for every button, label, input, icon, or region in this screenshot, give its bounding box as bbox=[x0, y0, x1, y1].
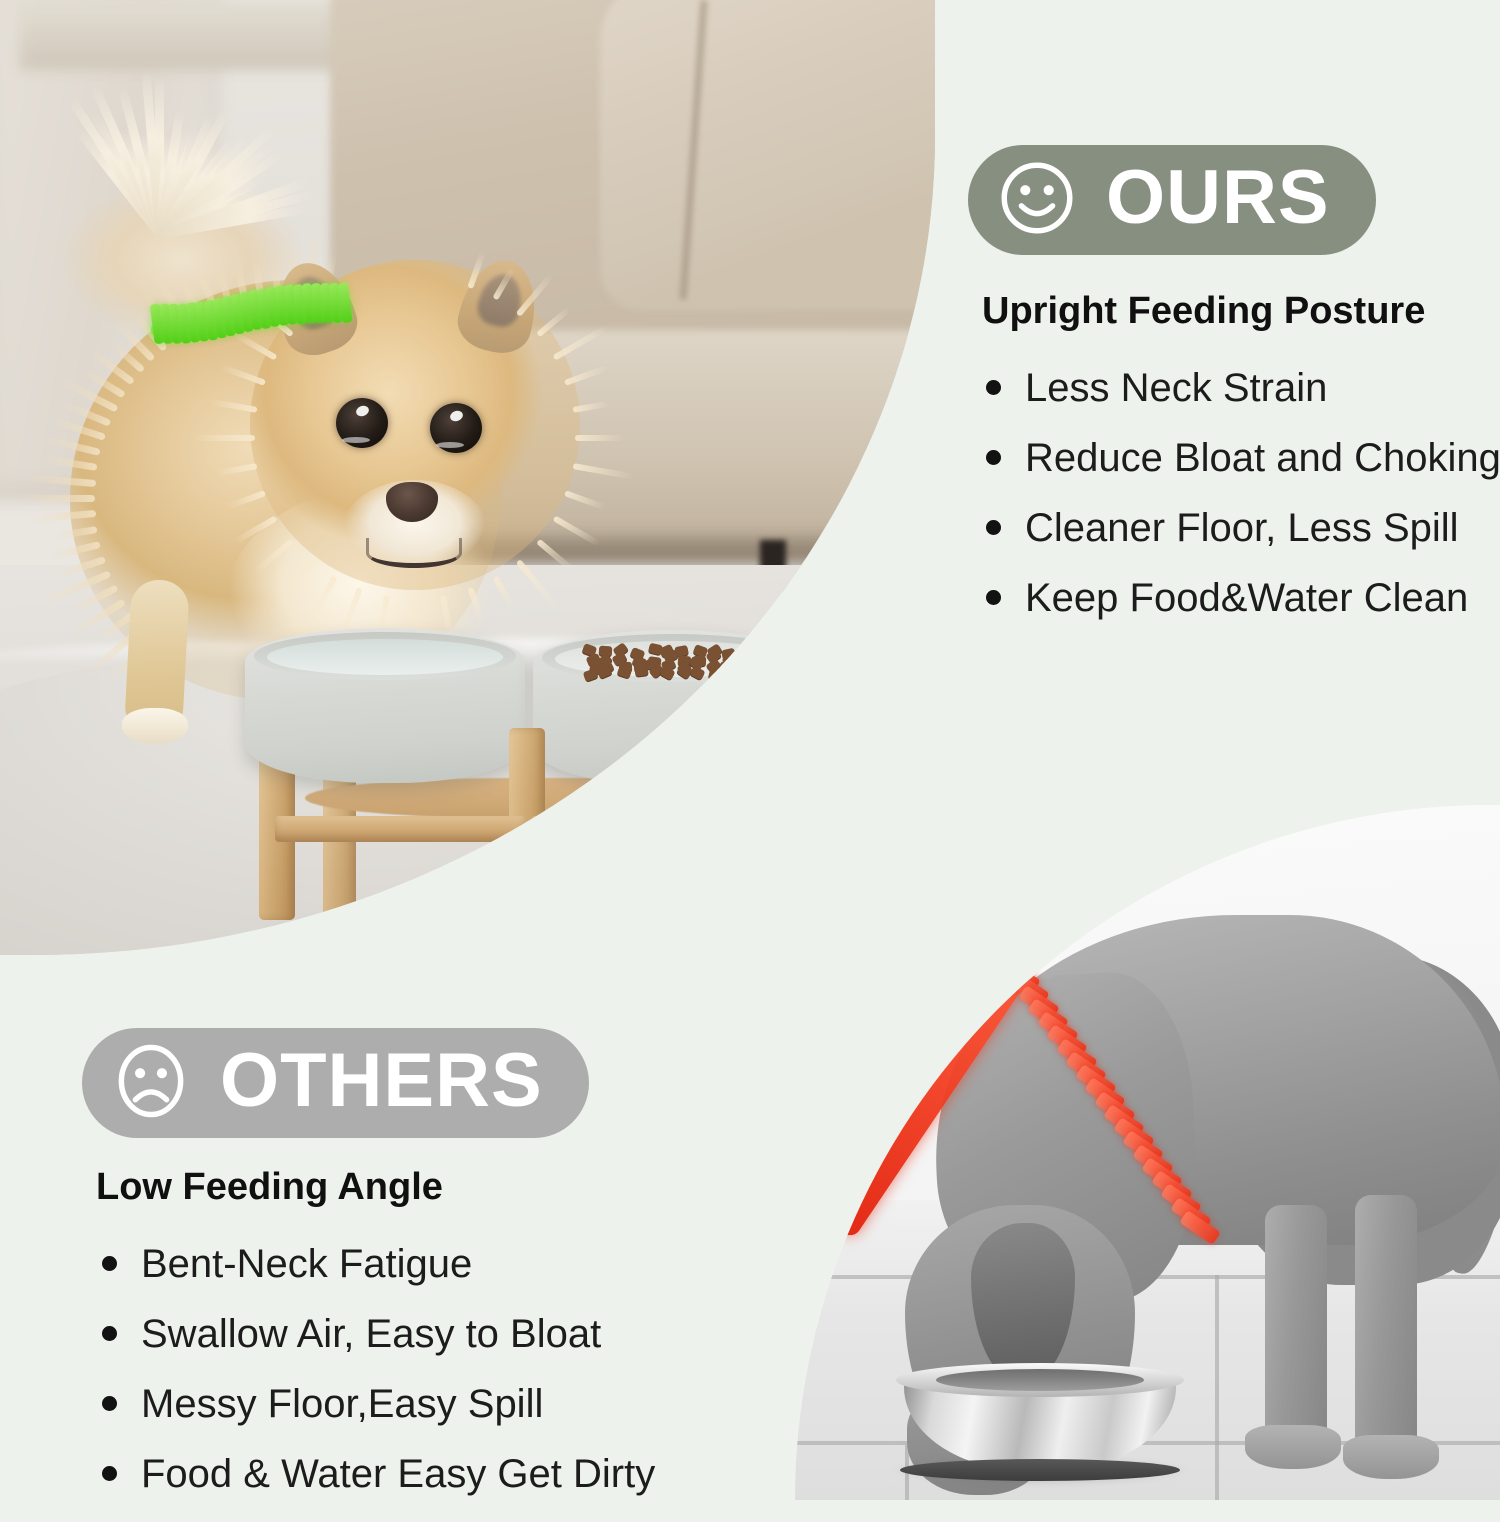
list-item-label: Reduce Bloat and Choking bbox=[1025, 436, 1500, 480]
sofa-cushion bbox=[600, 0, 935, 310]
dog-mouth bbox=[366, 538, 462, 568]
ours-benefit-list: Less Neck StrainReduce Bloat and Choking… bbox=[986, 366, 1488, 620]
bullet-dot-icon bbox=[102, 1326, 117, 1341]
dog-eye-right bbox=[430, 403, 482, 453]
stand-top-plate bbox=[305, 778, 805, 818]
low-steel-bowl bbox=[890, 1345, 1190, 1485]
list-item-label: Swallow Air, Easy to Bloat bbox=[141, 1312, 601, 1356]
stand-leg-back-left bbox=[323, 756, 356, 936]
list-item: Swallow Air, Easy to Bloat bbox=[102, 1312, 682, 1356]
dog-paw bbox=[1343, 1435, 1439, 1479]
elevated-bowl-stand bbox=[245, 628, 870, 933]
food-bowl bbox=[533, 630, 813, 785]
list-item-label: Keep Food&Water Clean bbox=[1025, 576, 1468, 620]
others-comparison-photo bbox=[795, 805, 1500, 1500]
bullet-dot-icon bbox=[102, 1466, 117, 1481]
stand-shadow bbox=[265, 916, 865, 942]
bullet-dot-icon bbox=[986, 590, 1001, 605]
ours-badge-label: OURS bbox=[1106, 160, 1330, 236]
list-item: Reduce Bloat and Choking bbox=[986, 436, 1488, 480]
strained-spine-overlay-icon bbox=[960, 960, 1230, 1290]
ours-subheading: Upright Feeding Posture bbox=[982, 290, 1488, 332]
list-item: Bent-Neck Fatigue bbox=[102, 1242, 682, 1286]
smiley-face-icon bbox=[998, 159, 1076, 237]
ours-text-panel: OURS Upright Feeding Posture Less Neck S… bbox=[968, 145, 1488, 646]
others-drawback-list: Bent-Neck FatigueSwallow Air, Easy to Bl… bbox=[102, 1242, 682, 1496]
list-item: Cleaner Floor, Less Spill bbox=[986, 506, 1488, 550]
bullet-dot-icon bbox=[102, 1396, 117, 1411]
dog-paw bbox=[122, 708, 188, 744]
others-badge: OTHERS bbox=[82, 1028, 589, 1138]
list-item: Keep Food&Water Clean bbox=[986, 576, 1488, 620]
dog-eye-left bbox=[336, 398, 388, 448]
list-item-label: Cleaner Floor, Less Spill bbox=[1025, 506, 1459, 550]
bullet-dot-icon bbox=[102, 1256, 117, 1271]
frowning-face-icon bbox=[112, 1042, 190, 1120]
list-item-label: Food & Water Easy Get Dirty bbox=[141, 1452, 655, 1496]
others-text-panel: OTHERS Low Feeding Angle Bent-Neck Fatig… bbox=[82, 1028, 682, 1522]
kibble bbox=[583, 644, 763, 674]
others-subheading: Low Feeding Angle bbox=[96, 1166, 682, 1208]
dog-paw bbox=[1245, 1425, 1341, 1469]
stand-rail-left bbox=[275, 816, 525, 842]
bullet-dot-icon bbox=[986, 380, 1001, 395]
others-badge-label: OTHERS bbox=[220, 1043, 543, 1119]
ours-product-photo bbox=[0, 0, 935, 955]
water-bowl bbox=[245, 628, 525, 783]
list-item-label: Bent-Neck Fatigue bbox=[141, 1242, 472, 1286]
dog-hind-leg bbox=[1355, 1195, 1417, 1455]
dog-hind-leg bbox=[1265, 1205, 1327, 1455]
ours-badge: OURS bbox=[968, 145, 1376, 255]
bullet-dot-icon bbox=[986, 520, 1001, 535]
list-item-label: Messy Floor,Easy Spill bbox=[141, 1382, 543, 1426]
bullet-dot-icon bbox=[986, 450, 1001, 465]
list-item: Less Neck Strain bbox=[986, 366, 1488, 410]
stand-leg-back-right bbox=[745, 756, 778, 936]
list-item-label: Less Neck Strain bbox=[1025, 366, 1327, 410]
stand-rail-right bbox=[531, 816, 801, 842]
list-item: Messy Floor,Easy Spill bbox=[102, 1382, 682, 1426]
list-item: Food & Water Easy Get Dirty bbox=[102, 1452, 682, 1496]
